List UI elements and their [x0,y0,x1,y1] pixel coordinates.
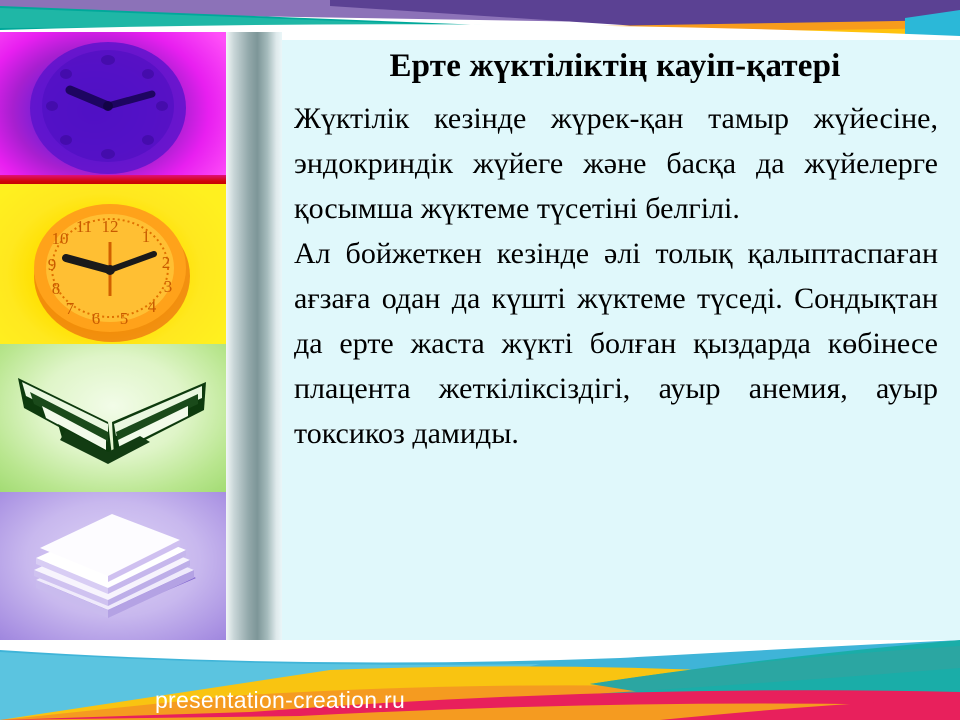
svg-text:8: 8 [52,279,61,298]
svg-text:9: 9 [48,255,57,274]
svg-text:6: 6 [92,309,101,328]
paper-stack-icon [0,492,226,642]
svg-text:1: 1 [142,227,151,246]
body-paragraph-1: Жүктілік кезінде жүрек-қан тамыр жүйесін… [294,96,938,231]
svg-text:10: 10 [52,229,69,248]
photo-open-book-green [0,344,226,492]
open-book-icon [0,344,226,492]
svg-text:11: 11 [76,217,92,236]
svg-text:4: 4 [148,297,157,316]
slide-content: Ерте жүктіліктің кауіп-қатері Жүктілік к… [288,44,942,456]
watermark-text: presentation-creation.ru [0,687,560,714]
svg-text:12: 12 [102,217,119,236]
svg-text:3: 3 [164,277,173,296]
image-collage: 1212 345 678 91011 [0,32,226,642]
slide: 1212 345 678 91011 [0,0,960,720]
photo-clock-yellow: 1212 345 678 91011 [0,184,226,344]
photo-clock-purple [0,32,226,184]
photo-paper-stack-purple [0,492,226,642]
clock-purple-icon [0,32,226,184]
body-paragraph-2: Ал бойжеткен кезінде әлі толық қалыптасп… [294,231,938,456]
collage-divider-strip [226,32,282,642]
svg-text:7: 7 [66,299,75,318]
slide-body: Жүктілік кезінде жүрек-қан тамыр жүйесін… [288,96,942,456]
slide-title: Ерте жүктіліктің кауіп-қатері [288,44,942,88]
svg-text:2: 2 [162,253,171,272]
svg-text:5: 5 [120,309,129,328]
clock-yellow-icon: 1212 345 678 91011 [0,184,226,344]
